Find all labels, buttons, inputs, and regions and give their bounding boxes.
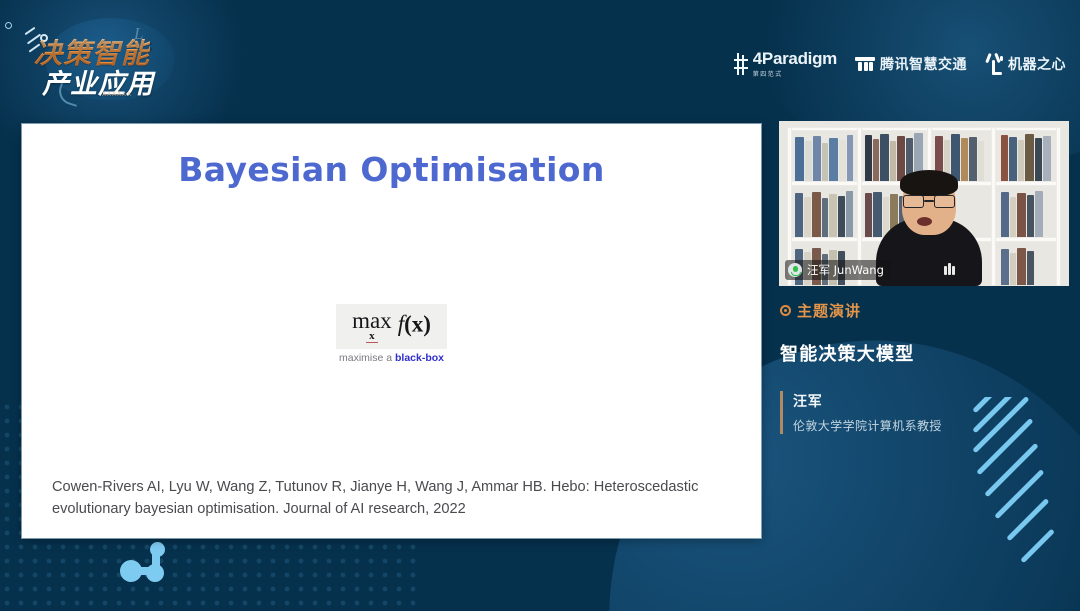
video-nametag-label: 汪军 JunWang (807, 262, 884, 278)
bookshelf-books (1001, 133, 1053, 181)
presentation-slide: Bayesian Optimisation max x f(x) maximis… (22, 124, 761, 538)
formula-function-argument: (x) (404, 311, 431, 336)
4paradigm-logo-icon (734, 53, 748, 75)
ring-icon (780, 305, 791, 316)
microphone-icon (788, 263, 802, 277)
formula-block: max x f(x) maximise a black-box (22, 304, 761, 364)
bookshelf-upright (1056, 127, 1061, 286)
session-tag-label: 主题演讲 (797, 300, 861, 321)
formula-max-label: max (352, 309, 392, 332)
session-tag: 主题演讲 (780, 300, 1075, 321)
speaker-hair (900, 170, 958, 196)
event-logo-subtext: XXXXXX (102, 92, 132, 98)
bookshelf-upright (991, 127, 996, 286)
formula-caption-strong: black-box (395, 352, 444, 364)
sponsor-4paradigm-cn: 第四范式 (753, 69, 837, 78)
event-logo: L 决策智能 产业应用 XXXXXX (18, 10, 193, 105)
speaker-title: 伦敦大学学院计算机系教授 (793, 417, 1075, 434)
speaker-block: 汪军 伦敦大学学院计算机系教授 (780, 391, 1075, 434)
speaker-name: 汪军 (793, 391, 1075, 411)
bookshelf-books (1001, 191, 1053, 237)
sponsor-tencent-name: 腾讯智慧交通 (880, 54, 967, 74)
jacket-logo-icon (944, 263, 957, 276)
bookshelf-books (1001, 247, 1053, 285)
speaker-video-tile[interactable]: 汪军 JunWang (779, 121, 1069, 286)
sponsor-jiqizhixin: 机器之心 (985, 53, 1066, 75)
molecule-decoration-icon (120, 542, 180, 586)
sponsor-logo-bar: 4Paradigm 第四范式 腾讯智慧交通 机器之心 (734, 50, 1066, 78)
speaker-figure (876, 173, 982, 286)
speaker-mouth (917, 217, 932, 226)
formula-caption-prefix: maximise a (339, 352, 395, 364)
sponsor-4paradigm-name: 4Paradigm (753, 50, 837, 67)
formula-max-operator: max x (352, 309, 392, 343)
bookshelf-books (795, 135, 853, 181)
sponsor-jiqizhixin-name: 机器之心 (1008, 54, 1066, 74)
slide-citation: Cowen-Rivers AI, Lyu W, Wang Z, Tutunov … (52, 476, 739, 520)
slide-title: Bayesian Optimisation (22, 150, 761, 189)
formula-box: max x f(x) (336, 304, 447, 349)
event-logo-line-2: 产业应用 (42, 62, 154, 101)
sponsor-tencent: 腾讯智慧交通 (855, 54, 967, 74)
sponsor-4paradigm: 4Paradigm 第四范式 (734, 50, 837, 78)
tencent-logo-icon (855, 57, 875, 71)
bookshelf-board (787, 127, 1061, 131)
session-info-panel: 主题演讲 智能决策大模型 汪军 伦敦大学学院计算机系教授 (780, 300, 1075, 434)
jiqizhixin-logo-icon (985, 53, 1003, 75)
speaker-glasses (903, 195, 955, 208)
bookshelf-books (795, 191, 853, 237)
corner-circle-icon (5, 22, 12, 29)
formula-caption: maximise a black-box (22, 352, 761, 364)
talk-title: 智能决策大模型 (780, 340, 1075, 366)
video-nametag: 汪军 JunWang (785, 260, 891, 280)
